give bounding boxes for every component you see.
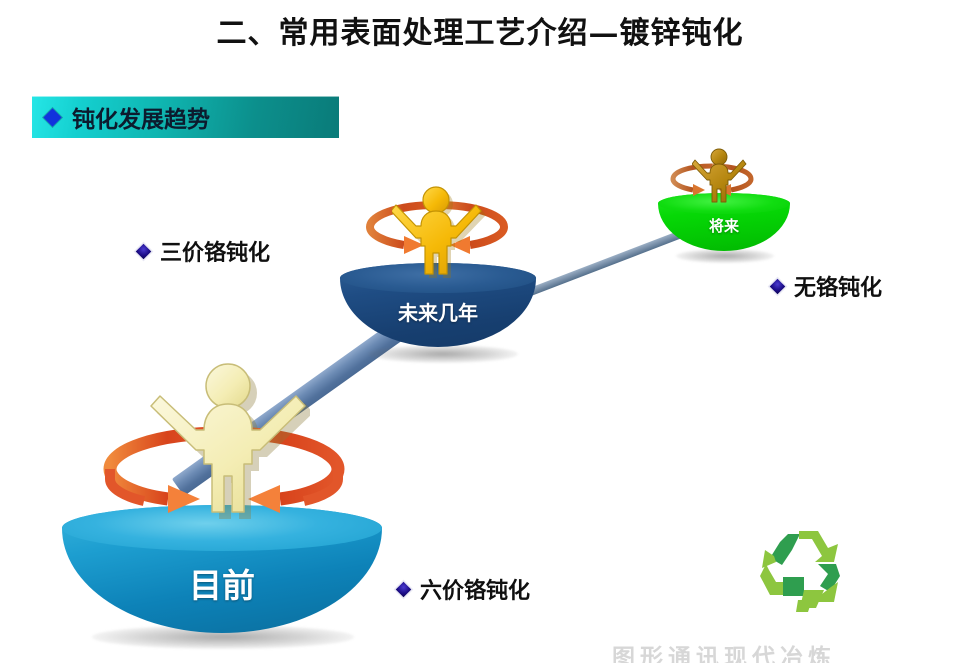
diamond-icon (43, 108, 61, 126)
platform-present-label: 目前 (62, 559, 382, 607)
platform-present: 目前 (62, 505, 382, 633)
annotation-trivalent-chromium: 三价铬钝化 (138, 235, 270, 267)
annotation-hexavalent-chromium: 六价铬钝化 (398, 573, 530, 605)
person-figure-future (692, 148, 748, 206)
diamond-icon (136, 243, 152, 259)
section-banner: 钝化发展趋势 (32, 96, 339, 138)
annotation-hexavalent-chromium-label: 六价铬钝化 (420, 573, 530, 605)
page-title: 二、常用表面处理工艺介绍—镀锌钝化 (0, 8, 960, 52)
annotation-chrome-free-label: 无铬钝化 (794, 270, 882, 302)
platform-midfuture-label: 未来几年 (340, 297, 536, 326)
platform-shadow-future (676, 249, 774, 263)
bottom-watermark: 图形通讯现代冶炼 (612, 644, 952, 663)
person-figure-present (150, 362, 310, 524)
platform-future-label: 将来 (658, 215, 790, 236)
diamond-icon (770, 278, 786, 294)
annotation-trivalent-chromium-label: 三价铬钝化 (160, 235, 270, 267)
diamond-icon (396, 581, 412, 597)
section-banner-label: 钝化发展趋势 (72, 100, 210, 134)
recycle-icon (752, 520, 848, 616)
annotation-chrome-free: 无铬钝化 (772, 270, 882, 302)
platform-shadow-midfuture (368, 345, 518, 363)
person-figure-midfuture (392, 186, 486, 282)
